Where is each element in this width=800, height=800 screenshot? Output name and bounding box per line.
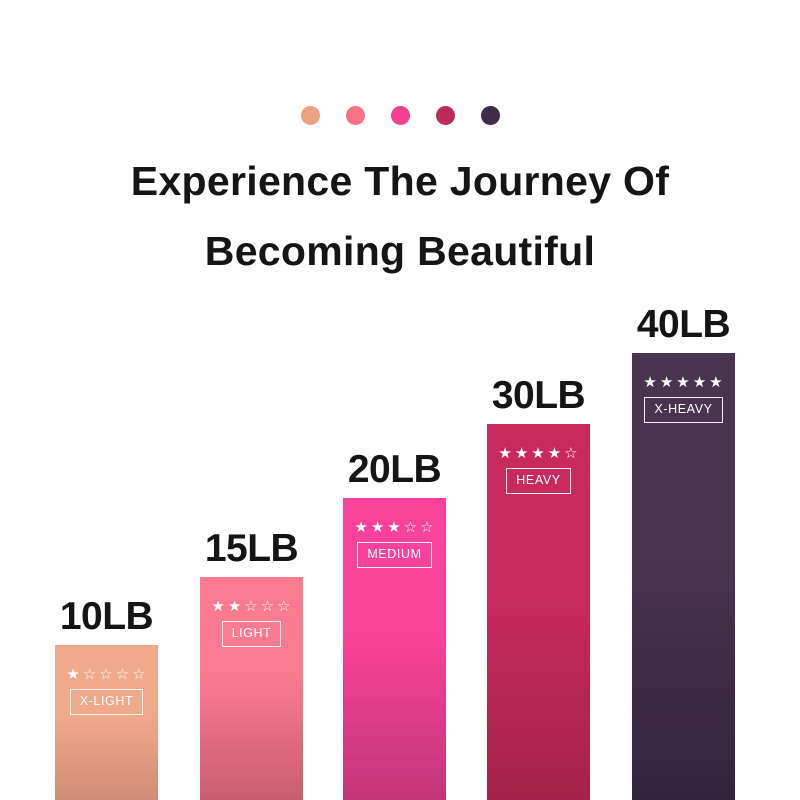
poster-canvas: Experience The Journey Of Becoming Beaut…: [0, 0, 800, 800]
star-empty-icon: ☆: [404, 520, 418, 535]
star-filled-icon: ★: [643, 375, 657, 390]
star-rating: ★★★☆☆: [354, 520, 434, 535]
star-empty-icon: ☆: [132, 667, 146, 682]
resistance-bar-chart: 10LB★☆☆☆☆X-LIGHT15LB★★☆☆☆LIGHT20LB★★★☆☆M…: [0, 0, 800, 800]
star-filled-icon: ★: [354, 520, 368, 535]
bar-badge: ★★★★☆HEAVY: [487, 446, 590, 494]
bar-value-label: 10LB: [60, 595, 153, 639]
level-tag: HEAVY: [506, 468, 570, 494]
bar-10lb[interactable]: ★☆☆☆☆X-LIGHT: [55, 645, 158, 800]
star-filled-icon: ★: [211, 599, 225, 614]
bar-group-40lb[interactable]: 40LB★★★★★X-HEAVY: [632, 353, 735, 800]
star-filled-icon: ★: [371, 520, 385, 535]
star-filled-icon: ★: [515, 446, 529, 461]
level-tag: X-LIGHT: [70, 689, 144, 715]
star-empty-icon: ☆: [99, 667, 113, 682]
level-tag: X-HEAVY: [644, 397, 722, 423]
star-rating: ★☆☆☆☆: [66, 667, 146, 682]
star-empty-icon: ☆: [83, 667, 97, 682]
bar-group-20lb[interactable]: 20LB★★★☆☆MEDIUM: [343, 498, 446, 800]
bar-40lb[interactable]: ★★★★★X-HEAVY: [632, 353, 735, 800]
star-filled-icon: ★: [66, 667, 80, 682]
bar-value-label: 20LB: [348, 448, 441, 492]
bar-badge: ★☆☆☆☆X-LIGHT: [55, 667, 158, 715]
bar-group-10lb[interactable]: 10LB★☆☆☆☆X-LIGHT: [55, 645, 158, 800]
star-filled-icon: ★: [387, 520, 401, 535]
star-filled-icon: ★: [228, 599, 242, 614]
star-filled-icon: ★: [709, 375, 723, 390]
star-empty-icon: ☆: [261, 599, 275, 614]
star-filled-icon: ★: [531, 446, 545, 461]
star-filled-icon: ★: [676, 375, 690, 390]
level-tag: MEDIUM: [357, 542, 431, 568]
star-empty-icon: ☆: [277, 599, 291, 614]
level-tag: LIGHT: [222, 621, 282, 647]
star-empty-icon: ☆: [116, 667, 130, 682]
star-empty-icon: ☆: [420, 520, 434, 535]
star-empty-icon: ☆: [244, 599, 258, 614]
star-filled-icon: ★: [548, 446, 562, 461]
bar-badge: ★★☆☆☆LIGHT: [200, 599, 303, 647]
bar-value-label: 40LB: [637, 303, 730, 347]
star-filled-icon: ★: [660, 375, 674, 390]
star-rating: ★★★★★: [643, 375, 723, 390]
bar-30lb[interactable]: ★★★★☆HEAVY: [487, 424, 590, 800]
star-rating: ★★☆☆☆: [211, 599, 291, 614]
bar-badge: ★★★★★X-HEAVY: [632, 375, 735, 423]
bar-value-label: 30LB: [492, 374, 585, 418]
bar-group-30lb[interactable]: 30LB★★★★☆HEAVY: [487, 424, 590, 800]
star-rating: ★★★★☆: [498, 446, 578, 461]
star-filled-icon: ★: [498, 446, 512, 461]
bar-20lb[interactable]: ★★★☆☆MEDIUM: [343, 498, 446, 800]
star-filled-icon: ★: [693, 375, 707, 390]
bar-15lb[interactable]: ★★☆☆☆LIGHT: [200, 577, 303, 800]
star-empty-icon: ☆: [564, 446, 578, 461]
bar-value-label: 15LB: [205, 527, 298, 571]
bar-group-15lb[interactable]: 15LB★★☆☆☆LIGHT: [200, 577, 303, 800]
bar-badge: ★★★☆☆MEDIUM: [343, 520, 446, 568]
